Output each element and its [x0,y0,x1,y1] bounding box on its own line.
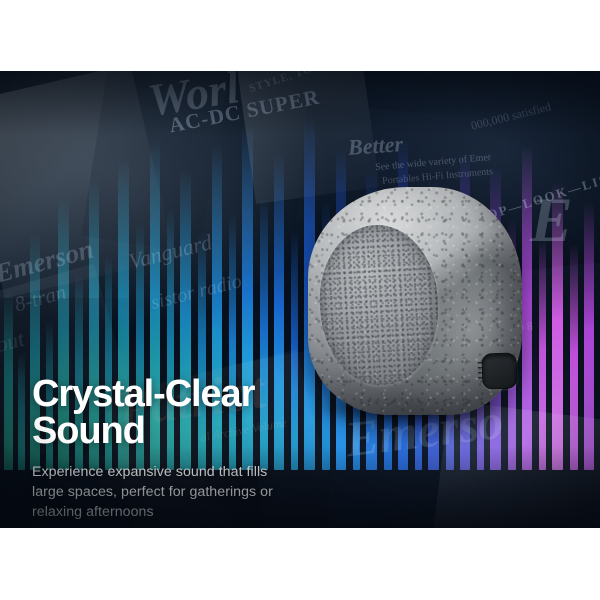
speaker-grille [316,222,442,388]
rock-speaker-product [300,181,530,421]
equalizer-bar [4,292,13,470]
equalizer-bar [570,244,578,470]
hero-banner: Worl AC-DC SUPER STYLE, TO 000,000 satis… [0,71,600,528]
subcopy-line-2: large spaces, perfect for gatherings or [32,484,273,500]
equalizer-bar [18,352,25,470]
promo-banner-page: Worl AC-DC SUPER STYLE, TO 000,000 satis… [0,0,600,600]
equalizer-bar [552,182,563,470]
page-title: Crystal-Clear Sound [32,376,312,450]
banner-description: Experience expansive sound that fills la… [32,462,312,523]
equalizer-bar [539,238,546,470]
speaker-side-port [481,352,517,389]
subcopy-line-3: relaxing afternoons [32,504,154,520]
headline-line-1: Crystal-Clear [32,373,254,415]
grille-texture [316,222,442,388]
headline-line-2: Sound [32,410,145,452]
subcopy-line-1: Experience expansive sound that fills [32,464,267,480]
equalizer-bar [584,202,594,470]
banner-copy: Crystal-Clear Sound Experience expansive… [32,376,312,523]
